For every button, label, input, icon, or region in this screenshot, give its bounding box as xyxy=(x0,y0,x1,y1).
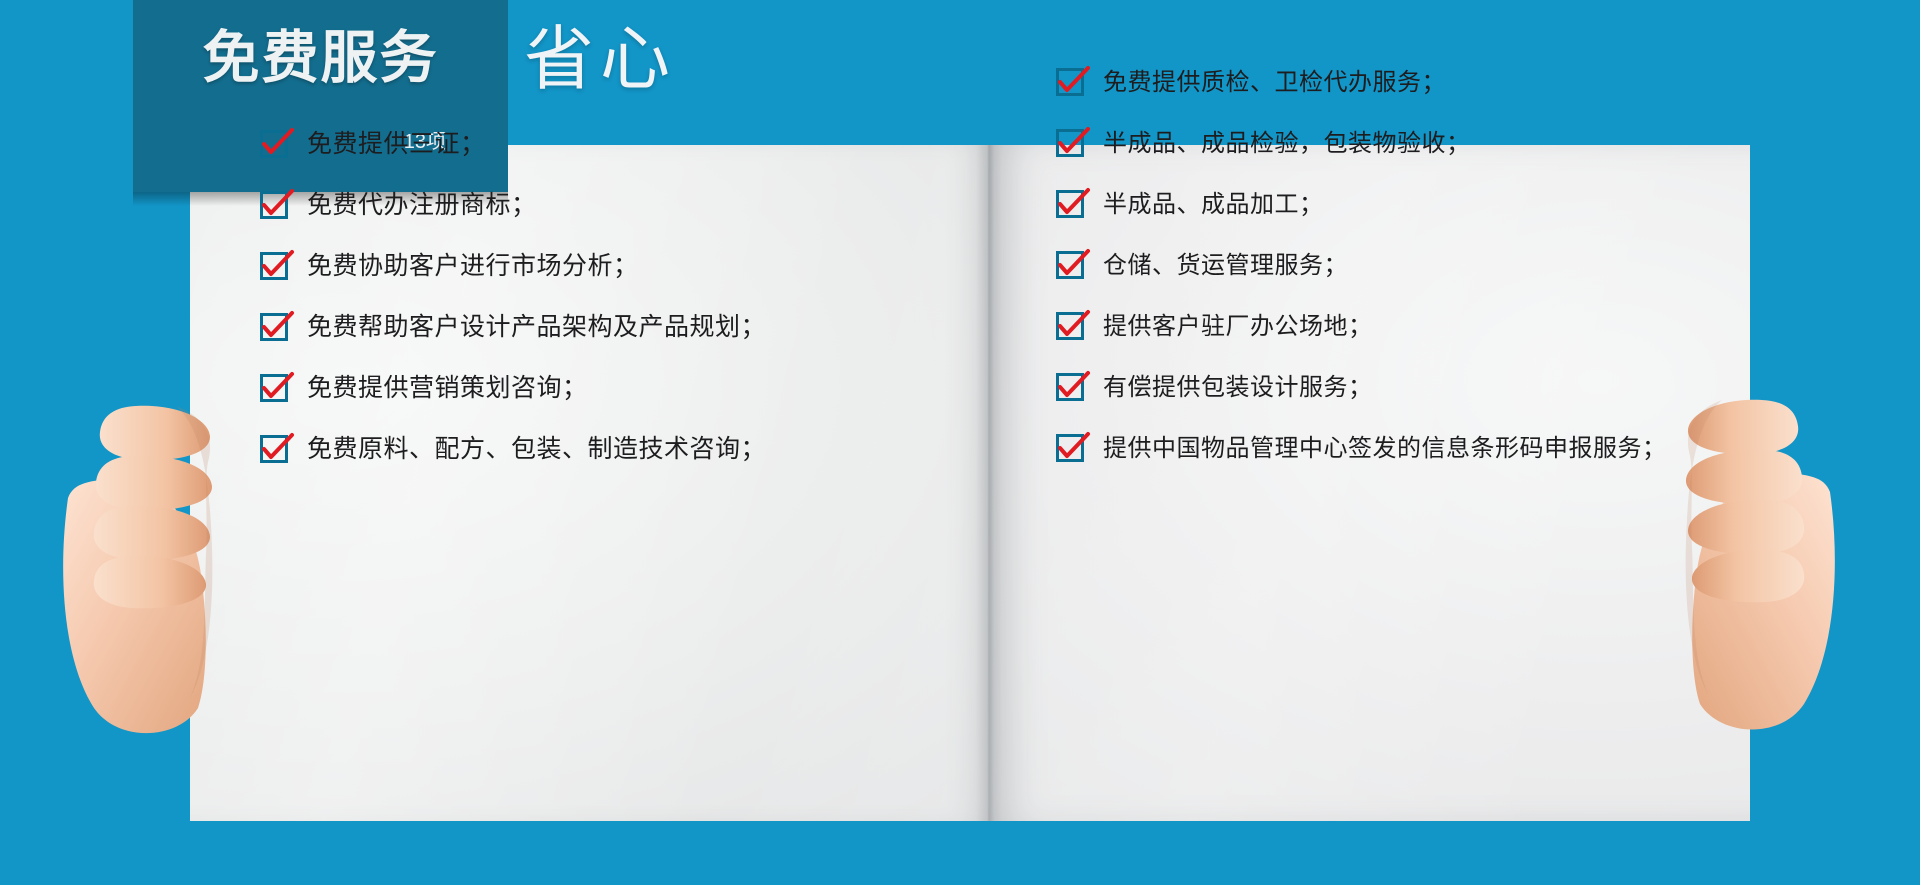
list-item-label: 免费帮助客户设计产品架构及产品规划； xyxy=(307,314,766,339)
list-item: 免费提供三证； xyxy=(260,128,766,159)
list-item-label: 提供客户驻厂办公场地； xyxy=(1103,314,1373,338)
checkbox-checked-icon xyxy=(1056,373,1084,401)
list-item: 免费帮助客户设计产品架构及产品规划； xyxy=(260,311,766,342)
list-item: 免费提供质检、卫检代办服务； xyxy=(1056,66,1667,97)
list-item-label: 有偿提供包装设计服务； xyxy=(1103,375,1373,399)
list-item-label: 半成品、成品加工； xyxy=(1103,192,1324,216)
list-item: 提供中国物品管理中心签发的信息条形码申报服务； xyxy=(1056,432,1667,463)
checkbox-checked-icon xyxy=(1056,251,1084,279)
list-item-label: 仓储、货运管理服务； xyxy=(1103,253,1348,277)
list-item: 有偿提供包装设计服务； xyxy=(1056,371,1667,402)
list-item-label: 半成品、成品检验，包装物验收； xyxy=(1103,131,1471,155)
checkbox-checked-icon xyxy=(1056,312,1084,340)
list-item-label: 免费提供三证； xyxy=(307,131,486,156)
service-list-right: 免费提供质检、卫检代办服务； 半成品、成品检验，包装物验收； 半成品、成品加工； xyxy=(1056,66,1667,493)
list-item: 半成品、成品检验，包装物验收； xyxy=(1056,127,1667,158)
list-item-label: 免费协助客户进行市场分析； xyxy=(307,253,639,278)
list-item-label: 免费提供质检、卫检代办服务； xyxy=(1103,70,1446,94)
list-item-label: 免费原料、配方、包装、制造技术咨询； xyxy=(307,436,766,461)
list-item-label: 免费代办注册商标； xyxy=(307,192,537,217)
checkbox-checked-icon xyxy=(1056,434,1084,462)
checkbox-checked-icon xyxy=(260,313,288,341)
list-item-label: 免费提供营销策划咨询； xyxy=(307,375,588,400)
list-item-label: 提供中国物品管理中心签发的信息条形码申报服务； xyxy=(1103,436,1667,460)
checkbox-checked-icon xyxy=(260,130,288,158)
checkbox-checked-icon xyxy=(1056,68,1084,96)
list-item: 免费代办注册商标； xyxy=(260,189,766,220)
checkbox-checked-icon xyxy=(260,252,288,280)
service-list-left: 免费提供三证； 免费代办注册商标； 免费协助客户进行市场分析； xyxy=(260,128,766,494)
list-item: 免费协助客户进行市场分析； xyxy=(260,250,766,281)
checkbox-checked-icon xyxy=(260,435,288,463)
list-item: 仓储、货运管理服务； xyxy=(1056,249,1667,280)
checkbox-checked-icon xyxy=(1056,129,1084,157)
list-item: 免费原料、配方、包装、制造技术咨询； xyxy=(260,433,766,464)
checkbox-checked-icon xyxy=(260,374,288,402)
list-item: 半成品、成品加工； xyxy=(1056,188,1667,219)
badge-title: 免费服务 xyxy=(133,30,508,87)
poster-canvas: 免费服务 13项 省心 免费提供三证； 免费代办注册商标； xyxy=(0,0,1920,885)
list-item: 提供客户驻厂办公场地； xyxy=(1056,310,1667,341)
checkbox-checked-icon xyxy=(1056,190,1084,218)
list-item: 免费提供营销策划咨询； xyxy=(260,372,766,403)
checkbox-checked-icon xyxy=(260,191,288,219)
page-title: 省心 xyxy=(524,24,676,94)
